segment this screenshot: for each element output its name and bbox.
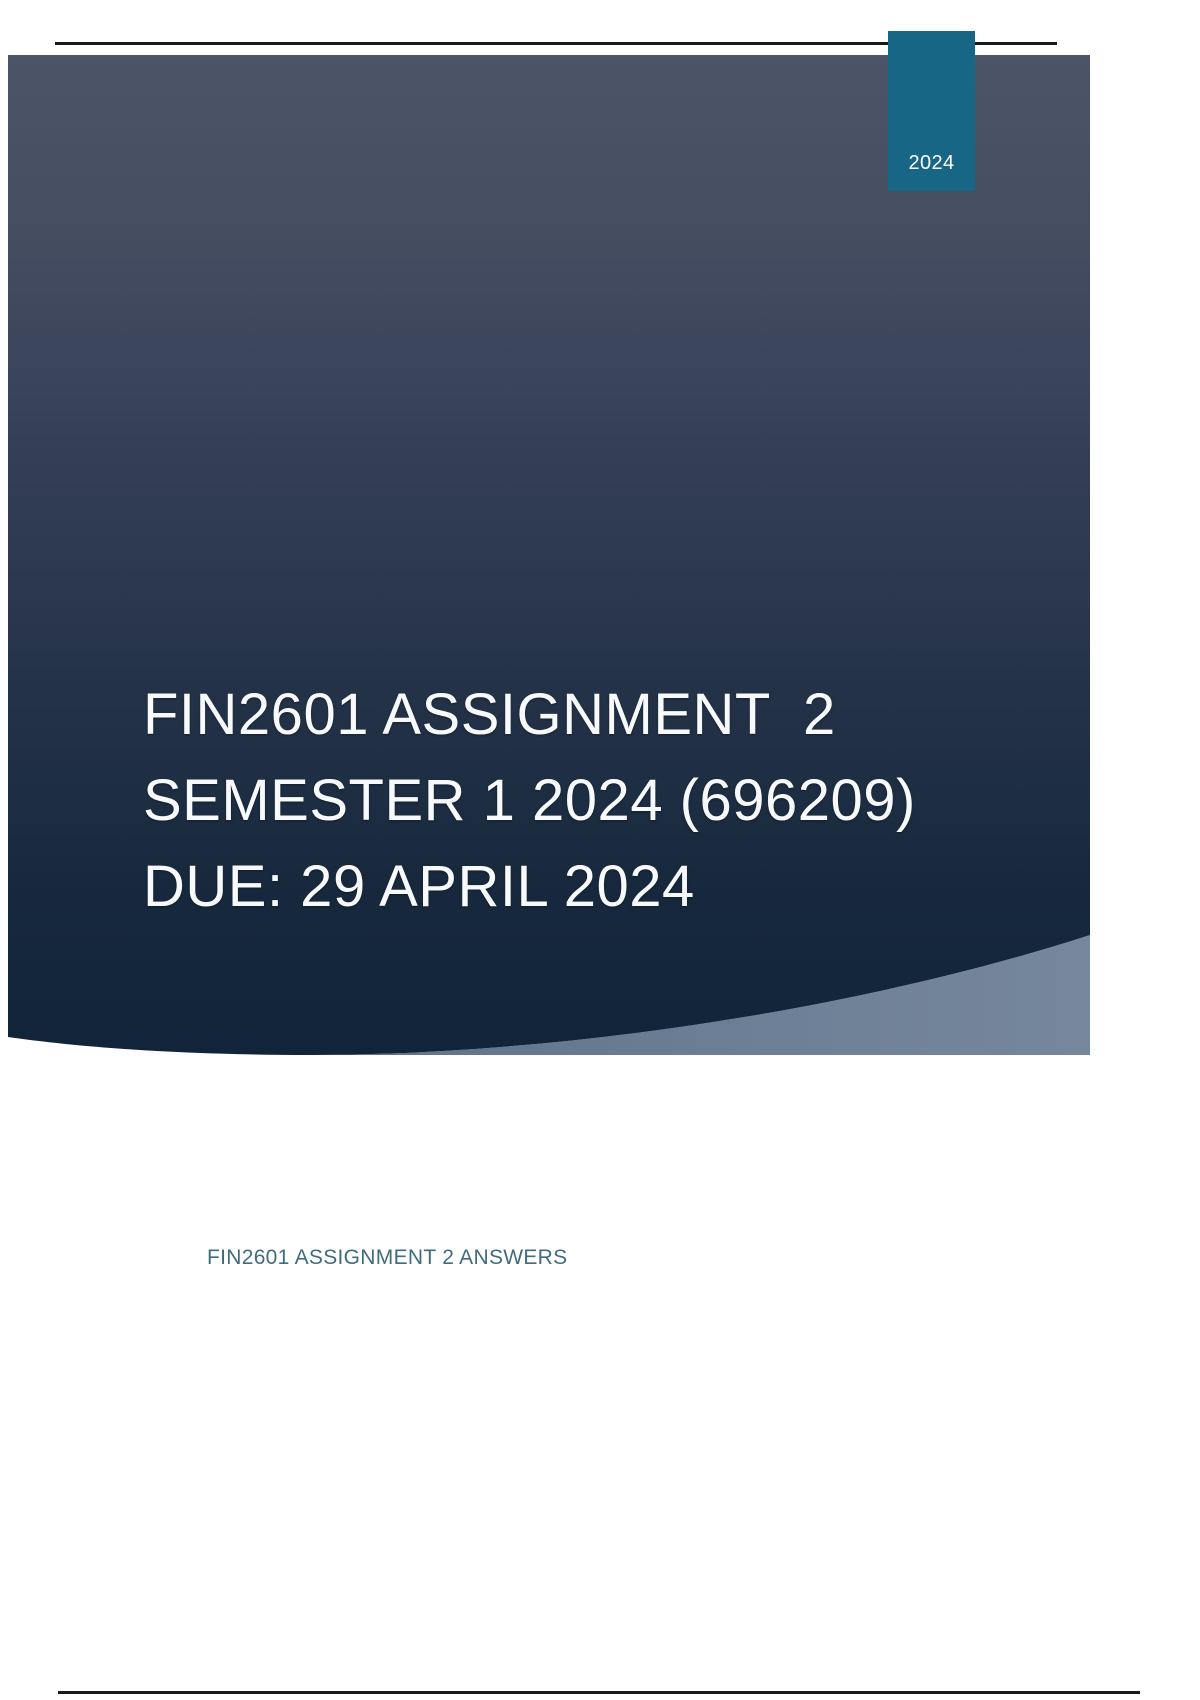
document-cover-page: 2024 FIN2601 ASSIGNMENT 2 SEMESTER 1 202…	[0, 0, 1200, 1700]
bottom-divider-rule	[58, 1691, 1140, 1694]
page-title-line-1: FIN2601 ASSIGNMENT 2	[143, 672, 963, 758]
page-title-line-2: SEMESTER 1 2024 (696209)	[143, 758, 963, 844]
page-title: FIN2601 ASSIGNMENT 2 SEMESTER 1 2024 (69…	[143, 672, 963, 930]
year-badge-label: 2024	[908, 153, 954, 173]
page-subtitle: FIN2601 ASSIGNMENT 2 ANSWERS	[207, 1246, 567, 1270]
page-title-line-3: DUE: 29 APRIL 2024	[143, 844, 963, 930]
year-badge: 2024	[888, 31, 975, 191]
